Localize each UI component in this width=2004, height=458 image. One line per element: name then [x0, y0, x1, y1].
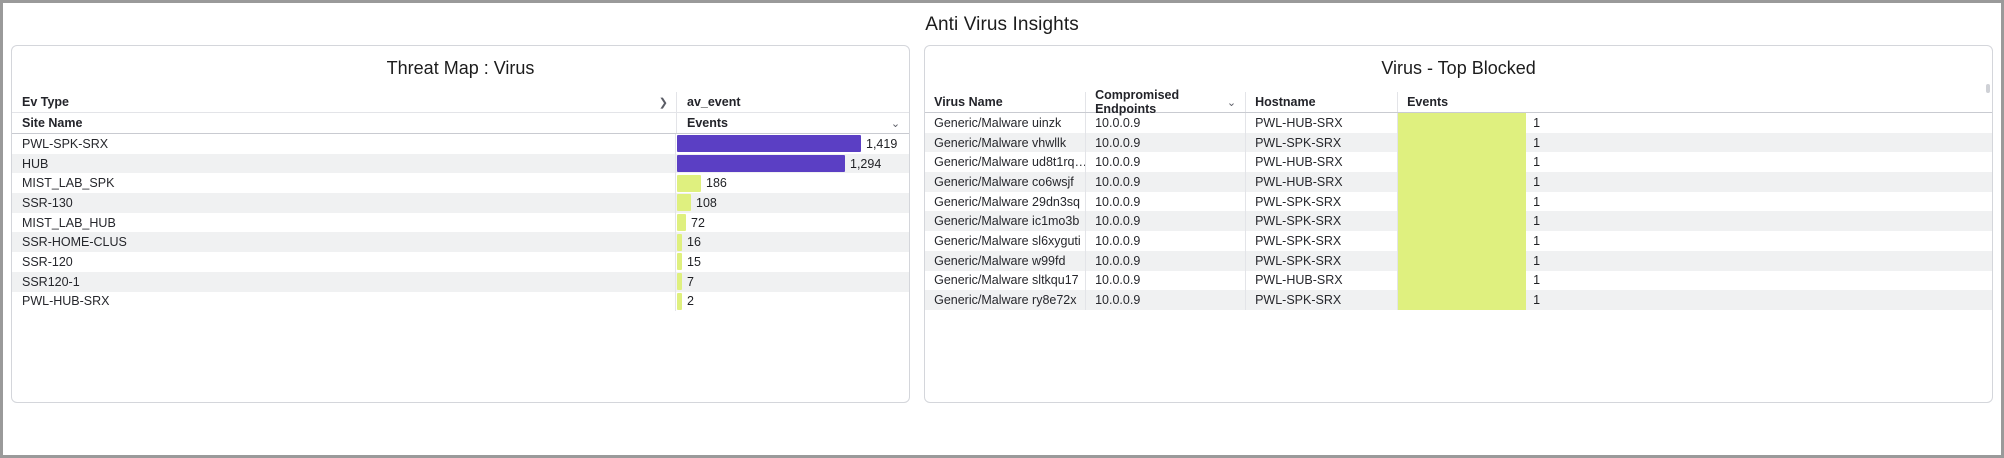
virus-name-cell: Generic/Malware 29dn3sq — [925, 192, 1085, 212]
panels-container: Threat Map : Virus Ev Type ❯ av_event Si… — [3, 36, 2001, 403]
hostname-cell: PWL-SPK-SRX — [1245, 192, 1397, 212]
events-bar — [1398, 133, 1526, 153]
site-name-cell: PWL-HUB-SRX — [12, 292, 676, 312]
events-value: 1 — [1526, 116, 1540, 130]
table-row[interactable]: HUB1,294 — [12, 154, 909, 174]
events-bar — [1398, 251, 1526, 271]
table-row[interactable]: MIST_LAB_HUB72 — [12, 213, 909, 233]
site-name-cell: MIST_LAB_HUB — [12, 213, 676, 233]
compromised-endpoint-cell: 10.0.0.9 — [1085, 211, 1245, 231]
events-label: Events — [687, 116, 728, 130]
compromised-endpoint-cell: 10.0.0.9 — [1085, 192, 1245, 212]
events-bar-cell: 2 — [676, 292, 909, 312]
events-value: 2 — [682, 294, 694, 308]
events-value: 1 — [1526, 195, 1540, 209]
table-row[interactable]: Generic/Malware 29dn3sq10.0.0.9PWL-SPK-S… — [925, 192, 1992, 212]
compromised-endpoint-cell: 10.0.0.9 — [1085, 133, 1245, 153]
events-bar-cell: 7 — [676, 272, 909, 292]
top-blocked-column-header: Virus Name Compromised Endpoints ⌄ Hostn… — [925, 92, 1992, 113]
table-row[interactable]: Generic/Malware ic1mo3b10.0.0.9PWL-SPK-S… — [925, 211, 1992, 231]
events-bar — [1398, 231, 1526, 251]
ev-type-label: Ev Type — [22, 95, 69, 109]
virus-name-cell: Generic/Malware w99fd — [925, 251, 1085, 271]
virus-name-cell: Generic/Malware ic1mo3b — [925, 211, 1085, 231]
column-header-hostname[interactable]: Hostname — [1245, 92, 1397, 112]
chevron-down-icon[interactable]: ⌄ — [1227, 96, 1236, 109]
events-bar-cell: 1,419 — [676, 134, 909, 154]
top-blocked-scrollbar[interactable] — [1986, 84, 1990, 93]
site-name-cell: PWL-SPK-SRX — [12, 134, 676, 154]
threat-map-title: Threat Map : Virus — [12, 46, 909, 92]
hostname-cell: PWL-HUB-SRX — [1245, 172, 1397, 192]
events-cell: 1 — [1397, 251, 1992, 271]
events-value: 1 — [1526, 136, 1540, 150]
events-value: 108 — [691, 196, 717, 210]
events-bar-cell: 108 — [676, 193, 909, 213]
compromised-endpoint-cell: 10.0.0.9 — [1085, 251, 1245, 271]
events-value: 7 — [682, 275, 694, 289]
events-value: 1 — [1526, 175, 1540, 189]
column-header-site-name[interactable]: Site Name — [12, 113, 676, 133]
hostname-cell: PWL-SPK-SRX — [1245, 251, 1397, 271]
events-bar — [1398, 113, 1526, 133]
events-bar — [1398, 211, 1526, 231]
events-bar-cell: 72 — [676, 213, 909, 233]
events-value: 1 — [1526, 293, 1540, 307]
events-value: 1,419 — [861, 137, 897, 151]
compromised-endpoint-cell: 10.0.0.9 — [1085, 113, 1245, 133]
events-bar-cell: 1,294 — [676, 154, 909, 174]
threat-map-group-header: Ev Type ❯ av_event — [12, 92, 909, 113]
threat-map-column-header: Site Name Events ⌄ — [12, 113, 909, 134]
events-cell: 1 — [1397, 290, 1992, 310]
events-cell: 1 — [1397, 192, 1992, 212]
events-bar — [1398, 192, 1526, 212]
events-bar — [677, 194, 691, 211]
site-name-cell: HUB — [12, 154, 676, 174]
column-header-events[interactable]: Events ⌄ — [676, 113, 909, 133]
table-row[interactable]: SSR-130108 — [12, 193, 909, 213]
events-bar — [677, 214, 686, 231]
events-cell: 1 — [1397, 211, 1992, 231]
events-value: 1 — [1526, 273, 1540, 287]
table-row[interactable]: Generic/Malware ud8t1rq…10.0.0.9PWL-HUB-… — [925, 152, 1992, 172]
hostname-cell: PWL-HUB-SRX — [1245, 152, 1397, 172]
events-cell: 1 — [1397, 231, 1992, 251]
site-name-cell: SSR-130 — [12, 193, 676, 213]
events-bar — [677, 175, 701, 192]
events-cell: 1 — [1397, 271, 1992, 291]
compromised-endpoint-cell: 10.0.0.9 — [1085, 172, 1245, 192]
events-cell: 1 — [1397, 152, 1992, 172]
events-cell: 1 — [1397, 133, 1992, 153]
virus-name-cell: Generic/Malware sltkqu17 — [925, 271, 1085, 291]
column-header-virus-name[interactable]: Virus Name — [925, 92, 1085, 112]
table-row[interactable]: PWL-SPK-SRX1,419 — [12, 134, 909, 154]
chevron-right-icon[interactable]: ❯ — [659, 96, 668, 109]
hostname-cell: PWL-HUB-SRX — [1245, 271, 1397, 291]
events-value: 16 — [682, 235, 701, 249]
events-bar — [1398, 152, 1526, 172]
compromised-endpoint-cell: 10.0.0.9 — [1085, 271, 1245, 291]
events-value: 1 — [1526, 234, 1540, 248]
hostname-cell: PWL-HUB-SRX — [1245, 113, 1397, 133]
hostname-cell: PWL-SPK-SRX — [1245, 290, 1397, 310]
top-blocked-rows: Generic/Malware uinzk10.0.0.9PWL-HUB-SRX… — [925, 113, 1992, 310]
group-header-av-event: av_event — [676, 92, 909, 112]
table-row[interactable]: Generic/Malware sl6xyguti10.0.0.9PWL-SPK… — [925, 231, 1992, 251]
virus-name-cell: Generic/Malware co6wsjf — [925, 172, 1085, 192]
column-header-events[interactable]: Events — [1397, 92, 1992, 112]
virus-name-cell: Generic/Malware uinzk — [925, 113, 1085, 133]
events-value: 1 — [1526, 214, 1540, 228]
table-row[interactable]: SSR-12015 — [12, 252, 909, 272]
virus-name-cell: Generic/Malware sl6xyguti — [925, 231, 1085, 251]
events-bar — [677, 135, 861, 152]
events-bar — [1398, 271, 1526, 291]
events-bar — [1398, 172, 1526, 192]
table-row[interactable]: MIST_LAB_SPK186 — [12, 173, 909, 193]
events-bar-cell: 16 — [676, 232, 909, 252]
hostname-cell: PWL-SPK-SRX — [1245, 133, 1397, 153]
table-row[interactable]: Generic/Malware vhwllk10.0.0.9PWL-SPK-SR… — [925, 133, 1992, 153]
virus-name-cell: Generic/Malware ry8e72x — [925, 290, 1085, 310]
events-value: 72 — [686, 216, 705, 230]
compromised-endpoints-label: Compromised Endpoints — [1095, 88, 1227, 116]
chevron-down-icon[interactable]: ⌄ — [891, 117, 900, 130]
events-cell: 1 — [1397, 172, 1992, 192]
events-value: 1 — [1526, 254, 1540, 268]
events-bar — [1398, 290, 1526, 310]
table-row[interactable]: Generic/Malware uinzk10.0.0.9PWL-HUB-SRX… — [925, 113, 1992, 133]
events-value: 186 — [701, 176, 727, 190]
site-name-cell: SSR120-1 — [12, 272, 676, 292]
table-row[interactable]: Generic/Malware w99fd10.0.0.9PWL-SPK-SRX… — [925, 251, 1992, 271]
virus-name-cell: Generic/Malware ud8t1rq… — [925, 152, 1085, 172]
table-row[interactable]: SSR-HOME-CLUS16 — [12, 232, 909, 252]
events-bar-cell: 186 — [676, 173, 909, 193]
compromised-endpoint-cell: 10.0.0.9 — [1085, 152, 1245, 172]
events-value: 1 — [1526, 155, 1540, 169]
compromised-endpoint-cell: 10.0.0.9 — [1085, 231, 1245, 251]
page-title: Anti Virus Insights — [3, 3, 2001, 36]
site-name-cell: MIST_LAB_SPK — [12, 173, 676, 193]
top-blocked-panel: Virus - Top Blocked Virus Name Compromis… — [924, 45, 1993, 403]
compromised-endpoint-cell: 10.0.0.9 — [1085, 290, 1245, 310]
site-name-cell: SSR-HOME-CLUS — [12, 232, 676, 252]
group-header-ev-type[interactable]: Ev Type ❯ — [12, 92, 676, 112]
table-row[interactable]: Generic/Malware sltkqu1710.0.0.9PWL-HUB-… — [925, 271, 1992, 291]
site-name-cell: SSR-120 — [12, 252, 676, 272]
hostname-cell: PWL-SPK-SRX — [1245, 231, 1397, 251]
column-header-compromised-endpoints[interactable]: Compromised Endpoints ⌄ — [1085, 92, 1245, 112]
threat-map-panel: Threat Map : Virus Ev Type ❯ av_event Si… — [11, 45, 910, 403]
table-row[interactable]: Generic/Malware co6wsjf10.0.0.9PWL-HUB-S… — [925, 172, 1992, 192]
table-row[interactable]: SSR120-17 — [12, 272, 909, 292]
events-value: 15 — [682, 255, 701, 269]
events-bar — [677, 155, 845, 172]
top-blocked-title: Virus - Top Blocked — [925, 46, 1992, 92]
dashboard-root: Anti Virus Insights Threat Map : Virus E… — [0, 0, 2004, 458]
hostname-cell: PWL-SPK-SRX — [1245, 211, 1397, 231]
table-row[interactable]: PWL-HUB-SRX2 — [12, 292, 909, 312]
virus-name-cell: Generic/Malware vhwllk — [925, 133, 1085, 153]
threat-map-rows: PWL-SPK-SRX1,419HUB1,294MIST_LAB_SPK186S… — [12, 134, 909, 311]
events-bar-cell: 15 — [676, 252, 909, 272]
events-value: 1,294 — [845, 157, 881, 171]
table-row[interactable]: Generic/Malware ry8e72x10.0.0.9PWL-SPK-S… — [925, 290, 1992, 310]
events-cell: 1 — [1397, 113, 1992, 133]
